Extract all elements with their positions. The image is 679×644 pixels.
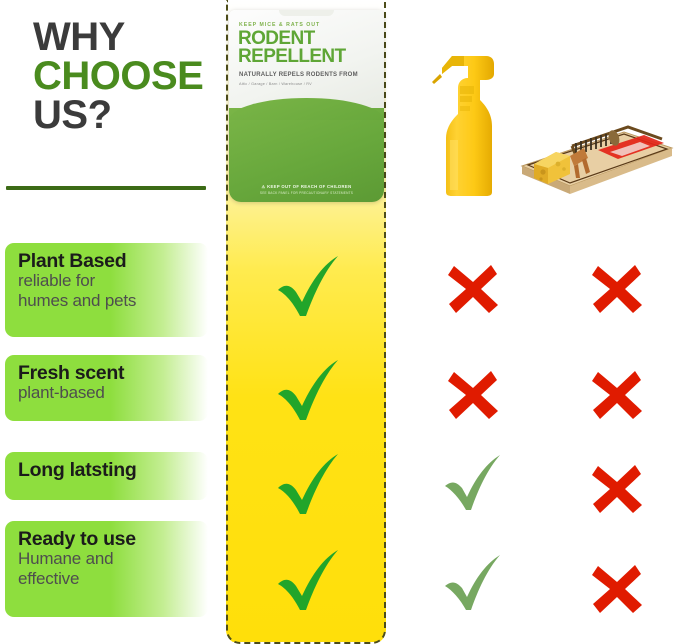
cross-icon [590,562,644,616]
title-line-choose: CHOOSE [33,57,223,96]
cross-icon [590,262,644,316]
feature-title: Ready to use [18,529,198,549]
check-icon [272,356,344,428]
package-title: RODENT REPELLENT [238,30,346,66]
comparison-infographic: WHY CHOOSE US? KEEP MICE & RATS OUT RODE… [0,0,679,644]
feature-subtitle-line2: humes and pets [18,291,198,310]
feature-subtitle-line1: reliable for [18,271,198,290]
feature-subtitle-line1: Humane and [18,549,198,568]
cross-icon [446,262,500,316]
feature-subtitle-line2: effective [18,569,198,588]
package-notch [279,10,335,16]
mouse-trap-icon [512,112,676,196]
check-icon [272,252,344,324]
spray-bottle-icon [424,44,516,196]
package-subtitle: NATURALLY REPELS RODENTS FROM [239,72,358,78]
feature-card: Ready to use Humane and effective [5,521,208,617]
package-title-line2: REPELLENT [238,46,346,67]
feature-title: Fresh scent [18,363,198,383]
page-title: WHY CHOOSE US? [33,18,223,136]
check-icon [440,452,506,518]
feature-card: Plant Based reliable for humes and pets [5,243,208,337]
check-icon [272,450,344,522]
cross-icon [446,368,500,422]
package-categories: Attic / Garage / Barn / Warehouse / RV [239,82,312,86]
feature-title: Plant Based [18,251,198,271]
header-divider [6,186,206,190]
package-warning-sub: SEE BACK PANEL FOR PRECAUTIONARY STATEME… [229,191,384,195]
title-line-why: WHY [33,18,223,57]
check-icon [440,552,506,618]
cross-icon [590,368,644,422]
feature-subtitle-line1: plant-based [18,383,198,402]
feature-card: Long latsting [5,452,208,500]
package-warning: ⚠ KEEP OUT OF REACH OF CHILDREN [229,184,384,189]
package-top-panel: KEEP MICE & RATS OUT RODENT REPELLENT NA… [229,10,384,110]
product-package: KEEP MICE & RATS OUT RODENT REPELLENT NA… [229,10,384,202]
feature-title: Long latsting [18,460,198,480]
feature-card: Fresh scent plant-based [5,355,208,421]
check-icon [272,546,344,618]
mint-leaf-icon [235,194,327,202]
package-bottom-panel: ACTIVE INGREDIENTS Peppermint Oil 3.4% C… [229,108,384,202]
cross-icon [590,462,644,516]
title-line-us: US? [33,96,223,135]
